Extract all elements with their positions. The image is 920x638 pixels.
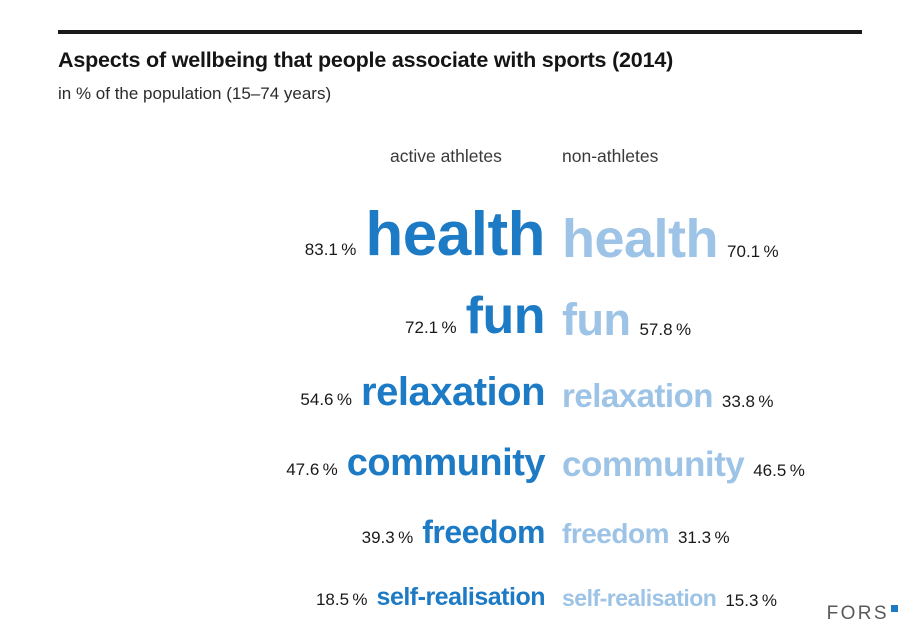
percent-value-active: 18.5 %: [316, 591, 368, 608]
word-row-inner: 54.6 %relaxationrelaxation33.8 %: [0, 342, 920, 412]
row-non-athletes: self-realisation15.3 %: [562, 587, 777, 610]
word-rows-container: 83.1 %healthhealth70.1 %72.1 %funfun57.8…: [0, 180, 920, 610]
row-non-athletes: freedom31.3 %: [562, 520, 730, 548]
wellbeing-word-non-athletes: self-realisation: [562, 587, 716, 610]
word-row: 47.6 %communitycommunity46.5 %: [0, 412, 920, 482]
wellbeing-word-active: relaxation: [361, 372, 545, 412]
row-active-athletes: 83.1 %health: [305, 204, 545, 266]
header-block: Aspects of wellbeing that people associa…: [58, 30, 862, 104]
wellbeing-word-non-athletes: health: [562, 212, 718, 266]
word-row: 54.6 %relaxationrelaxation33.8 %: [0, 342, 920, 412]
page-title: Aspects of wellbeing that people associa…: [58, 48, 862, 73]
word-row-inner: 83.1 %healthhealth70.1 %: [0, 180, 920, 266]
wellbeing-word-active: self-realisation: [377, 585, 545, 610]
percent-value-active: 83.1 %: [305, 241, 357, 258]
percent-value-non-athletes: 57.8 %: [639, 321, 691, 338]
percent-value-active: 39.3 %: [362, 529, 414, 546]
percent-value-non-athletes: 33.8 %: [722, 393, 774, 410]
percent-value-non-athletes: 15.3 %: [725, 592, 777, 609]
page-subtitle: in % of the population (15–74 years): [58, 84, 862, 104]
row-non-athletes: relaxation33.8 %: [562, 379, 774, 412]
row-active-athletes: 18.5 %self-realisation: [316, 585, 545, 610]
row-active-athletes: 54.6 %relaxation: [300, 372, 545, 412]
percent-value-active: 72.1 %: [405, 319, 457, 336]
word-row-inner: 47.6 %communitycommunity46.5 %: [0, 412, 920, 482]
word-row-inner: 72.1 %funfun57.8 %: [0, 266, 920, 342]
column-headers: active athletes non-athletes: [0, 146, 920, 172]
row-non-athletes: community46.5 %: [562, 447, 805, 482]
wellbeing-word-active: freedom: [422, 516, 545, 548]
word-row-inner: 39.3 %freedomfreedom31.3 %: [0, 482, 920, 548]
column-header-non-athletes: non-athletes: [562, 146, 658, 167]
percent-value-non-athletes: 70.1 %: [727, 243, 779, 260]
fors-wordmark: FORS: [827, 604, 889, 623]
row-active-athletes: 72.1 %fun: [405, 290, 545, 342]
wellbeing-word-non-athletes: fun: [562, 297, 630, 342]
fors-logo: FORS: [827, 604, 898, 626]
blue-square-icon: [891, 605, 898, 612]
percent-value-non-athletes: 46.5 %: [753, 462, 805, 479]
wellbeing-word-active: health: [365, 204, 545, 266]
row-non-athletes: fun57.8 %: [562, 297, 691, 342]
wellbeing-word-active: fun: [466, 290, 545, 342]
wellbeing-word-active: community: [347, 444, 545, 482]
percent-value-active: 47.6 %: [286, 461, 338, 478]
word-row: 72.1 %funfun57.8 %: [0, 266, 920, 342]
wellbeing-word-non-athletes: relaxation: [562, 379, 713, 412]
wellbeing-word-non-athletes: community: [562, 447, 744, 482]
wellbeing-word-non-athletes: freedom: [562, 520, 669, 548]
word-row-inner: 18.5 %self-realisationself-realisation15…: [0, 548, 920, 610]
word-row: 83.1 %healthhealth70.1 %: [0, 180, 920, 266]
row-active-athletes: 47.6 %community: [286, 444, 545, 482]
row-active-athletes: 39.3 %freedom: [362, 516, 545, 548]
word-row: 39.3 %freedomfreedom31.3 %: [0, 482, 920, 548]
top-rule-divider: [58, 30, 862, 34]
word-row: 18.5 %self-realisationself-realisation15…: [0, 548, 920, 610]
row-non-athletes: health70.1 %: [562, 212, 779, 266]
percent-value-non-athletes: 31.3 %: [678, 529, 730, 546]
percent-value-active: 54.6 %: [300, 391, 352, 408]
column-header-active-athletes: active athletes: [390, 146, 502, 167]
